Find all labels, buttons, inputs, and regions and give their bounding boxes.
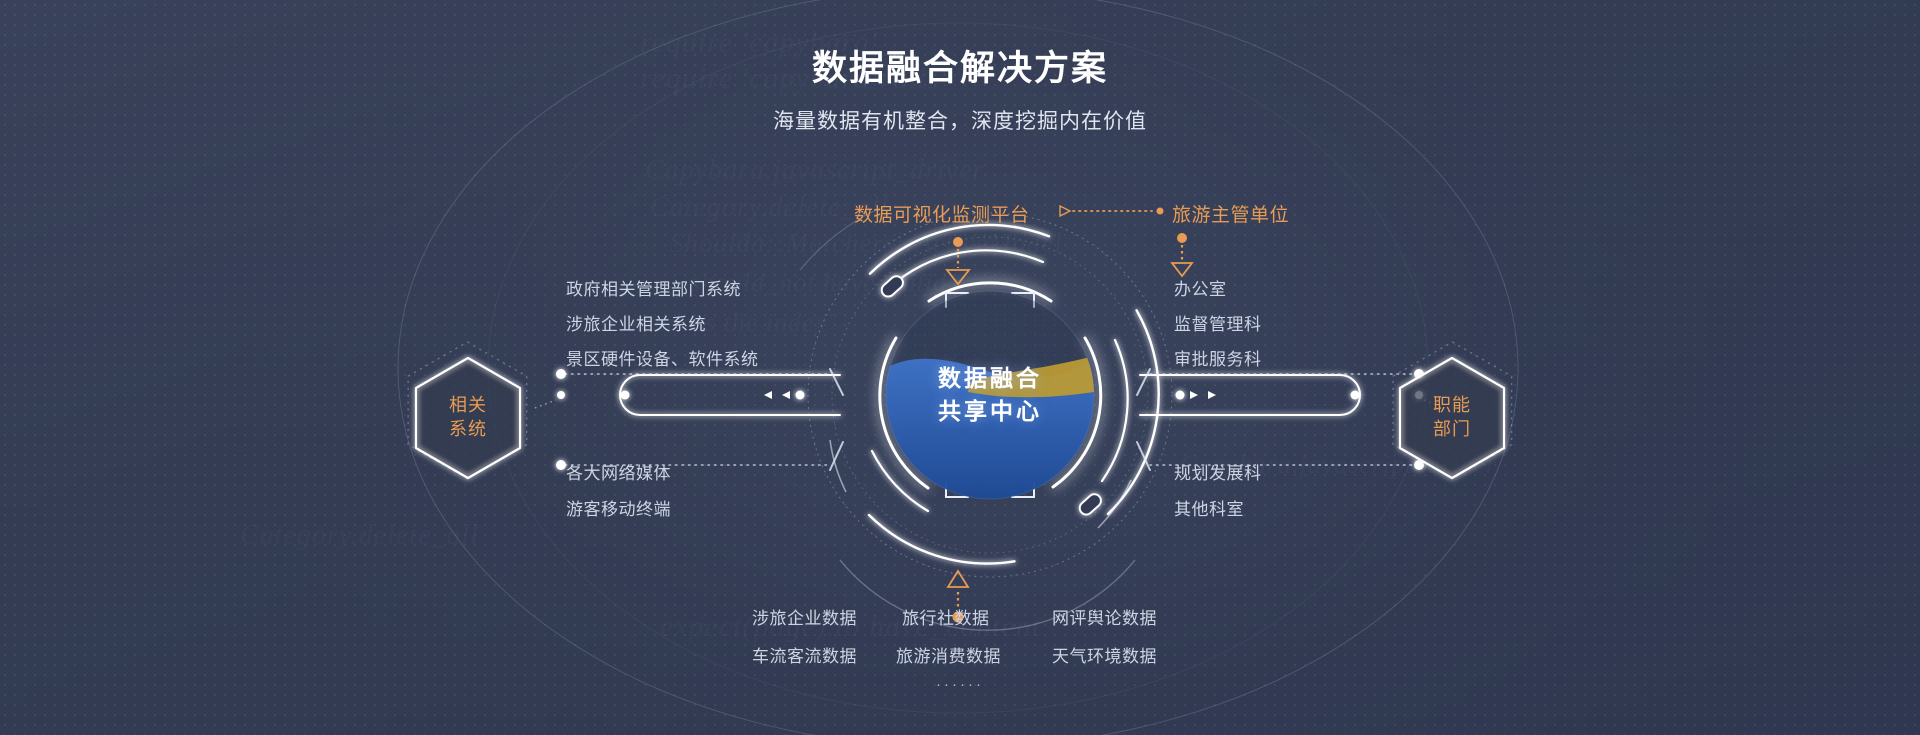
label-visualization-platform[interactable]: 数据可视化监测平台 xyxy=(854,200,1030,227)
label-bottom-data-6[interactable]: 天气环境数据 xyxy=(1052,642,1157,667)
left-hexagon-label-line2: 系统 xyxy=(449,417,487,441)
page-subtitle: 海量数据有机整合，深度挖掘内在价值 xyxy=(0,105,1920,135)
label-left-source-5[interactable]: 游客移动终端 xyxy=(566,495,671,520)
label-left-source-1[interactable]: 政府相关管理部门系统 xyxy=(566,275,741,300)
left-connector-group xyxy=(535,369,843,470)
left-hexagon-node[interactable]: 相关 系统 xyxy=(416,358,520,478)
label-bottom-ellipsis: ······ xyxy=(0,676,1920,693)
core-label-line2: 共享中心 xyxy=(938,395,1042,428)
background-code-line: Capybara.javascript_driver xyxy=(645,155,984,187)
label-right-dept-2[interactable]: 监督管理科 xyxy=(1174,310,1262,335)
label-left-source-3[interactable]: 景区硬件设备、软件系统 xyxy=(566,345,759,370)
label-bottom-data-3[interactable]: 网评舆论数据 xyxy=(1052,604,1157,629)
right-hexagon-label-line2: 部门 xyxy=(1433,417,1471,441)
right-hexagon-label-line1: 职能 xyxy=(1433,393,1471,417)
orange-top-link xyxy=(1060,206,1164,216)
infographic-stage: require 'capybara' require 'capybara/rai… xyxy=(0,0,1920,735)
page-title: 数据融合解决方案 xyxy=(0,40,1920,91)
label-left-source-4[interactable]: 各大网络媒体 xyxy=(566,459,671,484)
label-tourism-authority[interactable]: 旅游主管单位 xyxy=(1172,200,1289,227)
left-hexagon-label-line1: 相关 xyxy=(449,393,487,417)
label-bottom-data-4[interactable]: 车流客流数据 xyxy=(752,642,857,667)
background-code-line: Shoulda::Matchers::ActiveModel xyxy=(670,228,1063,259)
label-right-dept-1[interactable]: 办公室 xyxy=(1174,275,1227,300)
label-bottom-data-5[interactable]: 旅游消费数据 xyxy=(896,642,1001,667)
label-bottom-data-1[interactable]: 涉旅企业数据 xyxy=(752,604,857,629)
right-connector-group xyxy=(1137,369,1445,470)
label-right-dept-4[interactable]: 规划发展科 xyxy=(1174,459,1262,484)
orange-marker-top-right xyxy=(1172,233,1192,276)
label-bottom-data-2[interactable]: 旅行社数据 xyxy=(902,604,990,629)
right-hexagon-node[interactable]: 职能 部门 xyxy=(1400,358,1504,478)
core-label-line1: 数据融合 xyxy=(938,362,1042,395)
label-right-dept-3[interactable]: 审批服务科 xyxy=(1174,345,1262,370)
label-right-dept-5[interactable]: 其他科室 xyxy=(1174,495,1244,520)
label-left-source-2[interactable]: 涉旅企业相关系统 xyxy=(566,310,706,335)
core-node[interactable]: 数据融合 共享中心 xyxy=(866,271,1114,519)
background-code-line: Category.delete_all xyxy=(240,520,479,552)
